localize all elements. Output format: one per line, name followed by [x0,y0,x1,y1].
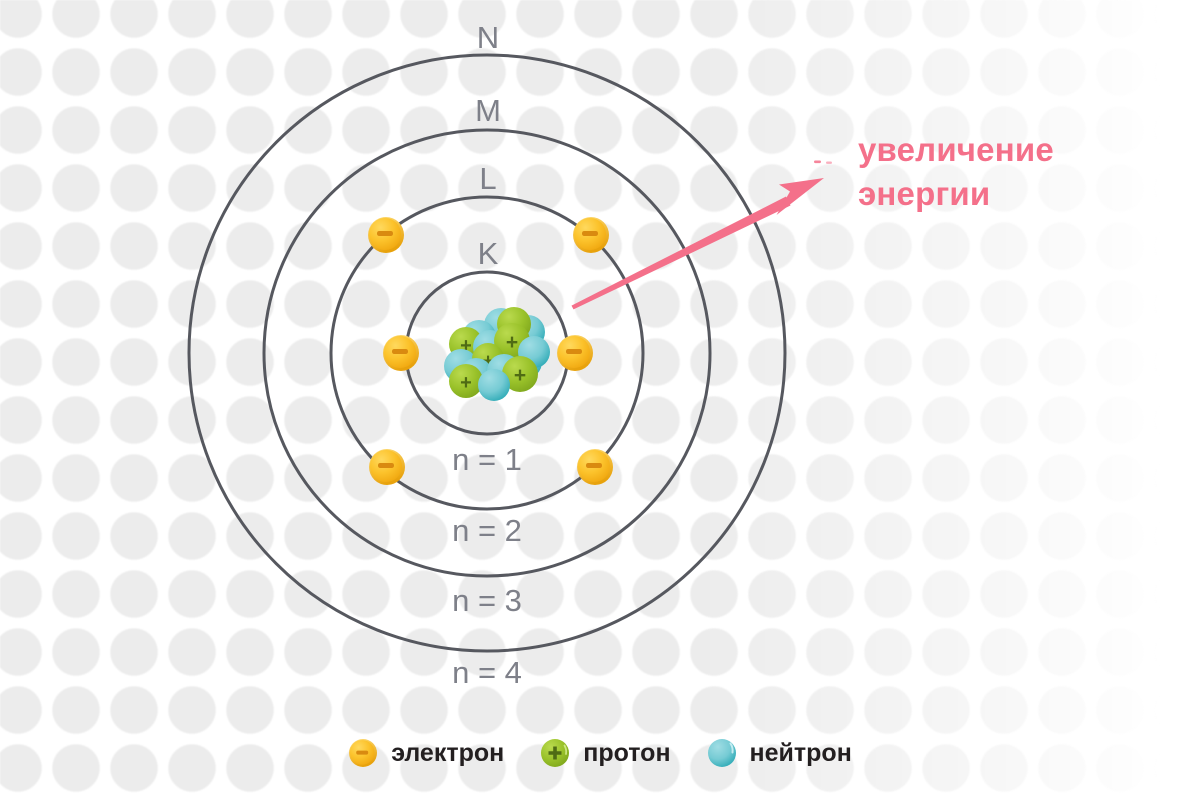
arrow-speck [814,161,821,164]
electron-minus-symbol [566,349,582,354]
legend-label-neutron: нейтрон [750,739,852,768]
legend-label-electron: электрон [391,739,504,768]
electron-l-top-right[interactable] [573,217,609,253]
proton-symbol: + [506,331,518,354]
electron-l-top-left[interactable] [368,217,404,253]
electron-minus-symbol [392,349,408,354]
legend-item-neutron: нейтрон [707,738,852,768]
atom-diagram: N M L K n = 1 n = 2 n = 3 n = 4 [0,0,1200,800]
electron-minus-symbol [378,463,394,468]
energy-label-line-2: энергии [858,172,1168,216]
electron-icon [348,738,378,768]
neutron-particle [478,369,510,401]
level-label-n1: n = 1 [452,442,522,477]
electron-l-bottom-right[interactable] [577,449,613,485]
electron-k-left[interactable] [383,335,419,371]
proton-symbol: + [460,372,472,394]
legend: электрон протон нейтрон [0,738,1200,768]
legend-item-proton: протон [540,738,670,768]
level-label-n3: n = 3 [452,583,522,618]
level-label-n4: n = 4 [452,655,522,690]
shell-letter-l: L [479,161,496,196]
proton-symbol: + [514,364,526,387]
energy-increase-label: увеличение энергии [858,128,1168,215]
shell-letter-n: N [477,20,499,55]
shell-letter-m: M [475,93,501,128]
proton-icon [540,738,570,768]
arrow-speck [826,162,832,164]
level-label-n2: n = 2 [452,513,522,548]
energy-label-line-1: увеличение [858,128,1168,172]
arrow-shaft [572,197,791,310]
electron-minus-symbol [377,231,393,236]
legend-label-proton: протон [583,739,670,768]
electron-k-right[interactable] [557,335,593,371]
energy-level-labels: n = 1 n = 2 n = 3 n = 4 [452,442,522,690]
electron-minus-symbol [586,463,602,468]
arrow-head [777,178,825,215]
electron-minus-symbol [582,231,598,236]
electron-l-bottom-left[interactable] [369,449,405,485]
nucleus: + + + + + [444,307,550,401]
diagram-canvas: N M L K n = 1 n = 2 n = 3 n = 4 [0,0,1200,800]
shell-letter-k: K [478,236,499,271]
energy-increase-arrow [572,161,833,310]
shell-letter-labels: N M L K [475,20,501,271]
neutron-icon [707,738,737,768]
legend-item-electron: электрон [348,738,504,768]
